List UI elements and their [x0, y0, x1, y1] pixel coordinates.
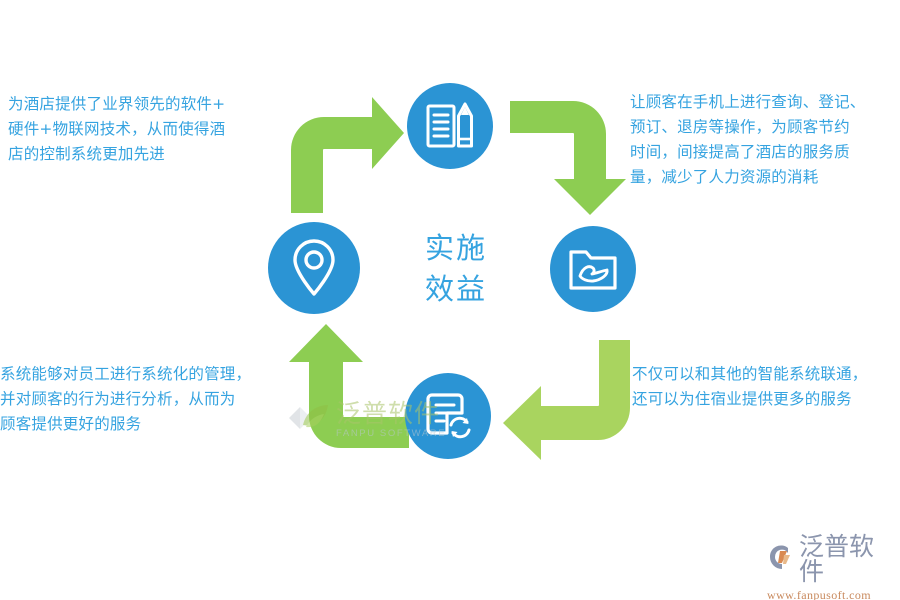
document-sync-icon	[423, 391, 473, 441]
arrow-elbow-left-up	[281, 320, 411, 450]
infographic-canvas: 为酒店提供了业界领先的软件+ 硬件+物联网技术，从而使得酒 店的控制系统更加先进…	[0, 0, 900, 600]
location-pin-icon	[290, 239, 338, 297]
arrow-elbow-up-right	[286, 95, 406, 215]
description-bottom-left: 系统能够对员工进行系统化的管理， 并对顾客的行为进行分析，从而为 顾客提供更好的…	[0, 362, 292, 437]
node-document-pencil[interactable]	[407, 83, 493, 169]
arrow-elbow-down-left	[497, 338, 632, 463]
logo-brand-cn: 泛普软件	[799, 534, 894, 584]
node-document-sync[interactable]	[405, 373, 491, 459]
folder-hand-icon	[568, 246, 618, 292]
description-top-left: 为酒店提供了业界领先的软件+ 硬件+物联网技术，从而使得酒 店的控制系统更加先进	[8, 92, 280, 167]
description-top-right: 让顾客在手机上进行查询、登记、 预订、退房等操作，为顾客节约 时间，间接提高了酒…	[630, 90, 898, 190]
logo-url: www.fanpusoft.com	[767, 588, 871, 600]
node-folder-hand[interactable]	[550, 226, 636, 312]
logo-row: 泛普软件	[766, 534, 894, 584]
arrow-elbow-right-down	[508, 95, 628, 215]
document-pencil-icon	[425, 101, 475, 151]
center-title: 实施 效益	[398, 228, 514, 310]
logo-mark-icon	[766, 542, 796, 577]
fanpu-logo[interactable]: 泛普软件 www.fanpusoft.com	[766, 534, 894, 588]
description-bottom-right: 不仅可以和其他的智能系统联通， 还可以为住宿业提供更多的服务	[632, 362, 900, 412]
node-location-pin[interactable]	[268, 222, 360, 314]
